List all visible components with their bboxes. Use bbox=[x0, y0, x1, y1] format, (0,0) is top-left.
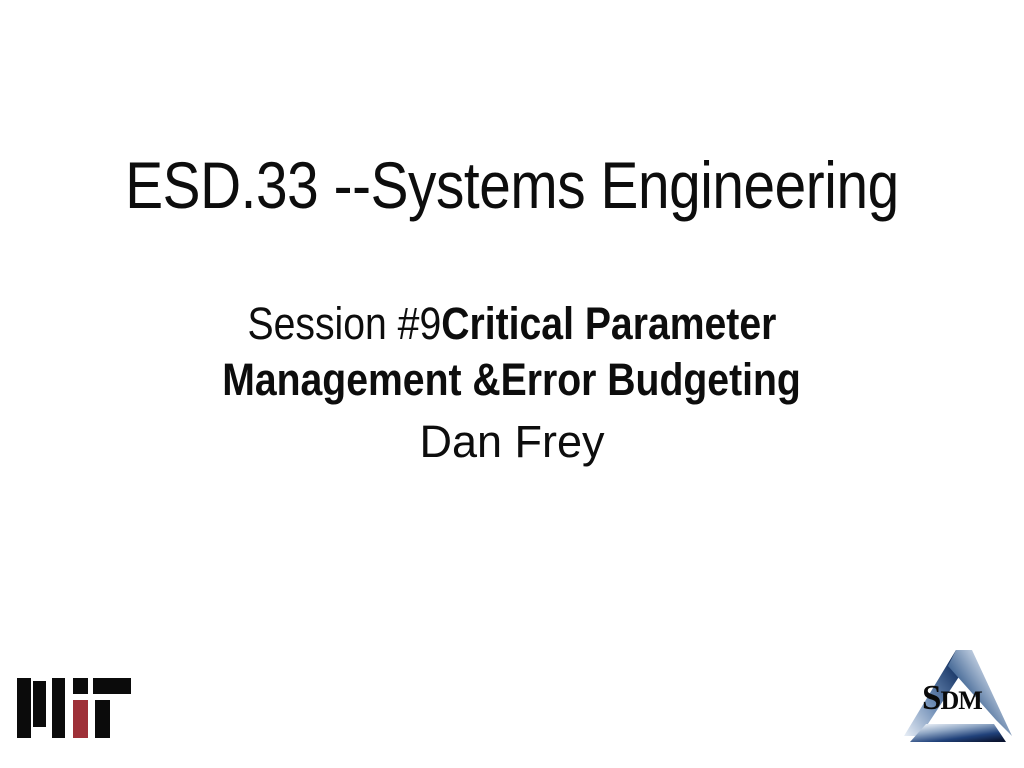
presentation-slide: ESD.33 --Systems Engineering Session #9C… bbox=[0, 0, 1024, 768]
mit-logo-t-bar bbox=[93, 678, 131, 694]
mit-logo-i-stem bbox=[73, 700, 88, 738]
mit-logo-bar-2 bbox=[33, 681, 46, 727]
sdm-letters-dm: DM bbox=[940, 686, 981, 715]
slide-subtitle: Session #9Critical Parameter Management … bbox=[60, 296, 964, 408]
sdm-logo: SDM bbox=[896, 642, 1020, 758]
mit-logo-bar-1 bbox=[17, 678, 31, 738]
slide-presenter: Dan Frey bbox=[60, 416, 964, 468]
mit-logo-t-stem bbox=[95, 700, 110, 738]
subtitle-session-label: Session #9 bbox=[248, 298, 442, 349]
sdm-letter-s: S bbox=[922, 678, 940, 717]
slide-title-text: ESD.33 --Systems Engineering bbox=[123, 148, 900, 222]
subtitle-topic-part-1: Critical Parameter bbox=[441, 298, 776, 349]
sdm-wordmark: SDM bbox=[922, 680, 982, 718]
presenter-name: Dan Frey bbox=[60, 416, 964, 468]
mit-logo-i-dot bbox=[73, 678, 88, 694]
mit-logo-bar-3 bbox=[52, 678, 65, 738]
slide-title: ESD.33 --Systems Engineering bbox=[60, 148, 964, 222]
subtitle-topic-part-2: Management &Error Budgeting bbox=[223, 354, 802, 405]
subtitle-line-2: Management &Error Budgeting bbox=[60, 352, 964, 408]
subtitle-line-1: Session #9Critical Parameter bbox=[60, 296, 964, 352]
mit-logo bbox=[14, 672, 140, 744]
